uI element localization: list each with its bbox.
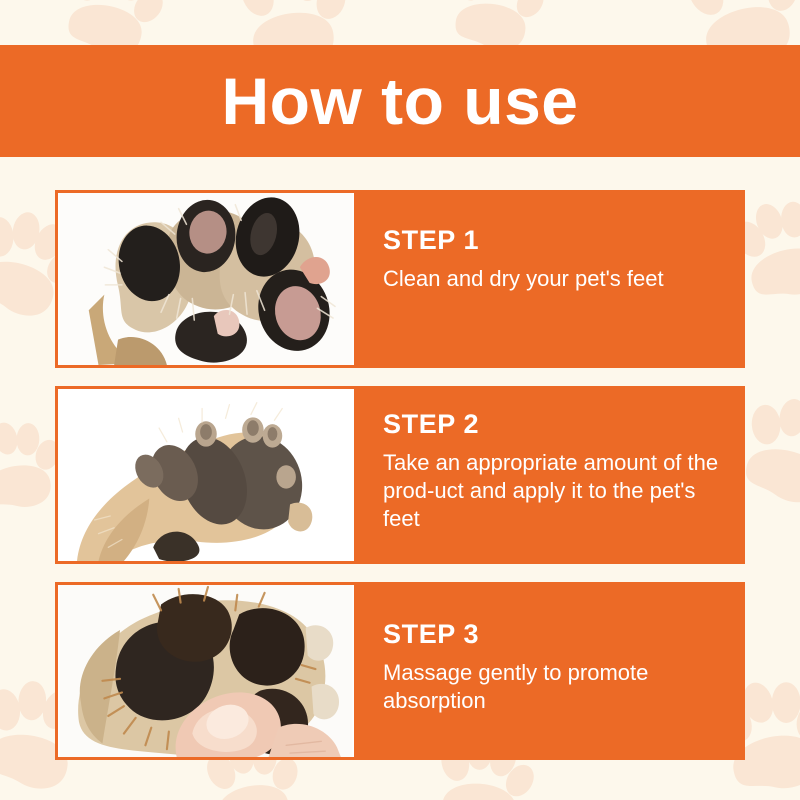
step-row: STEP 3 Massage gently to promote absorpt… (55, 582, 745, 760)
step-text-panel: STEP 3 Massage gently to promote absorpt… (355, 582, 745, 760)
step-photo (55, 582, 357, 760)
page-title: How to use (221, 68, 578, 134)
step-text-panel: STEP 2 Take an appropriate amount of the… (355, 386, 745, 564)
step-photo (55, 386, 357, 564)
step-row: STEP 1 Clean and dry your pet's feet (55, 190, 745, 368)
step-text-panel: STEP 1 Clean and dry your pet's feet (355, 190, 745, 368)
step-title: STEP 3 (383, 620, 745, 650)
step-title: STEP 1 (383, 226, 745, 256)
step-description: Take an appropriate amount of the prod-u… (383, 449, 723, 533)
step-title: STEP 2 (383, 410, 745, 440)
step-description: Massage gently to promote absorption (383, 659, 723, 715)
step-row: STEP 2 Take an appropriate amount of the… (55, 386, 745, 564)
step-photo (55, 190, 357, 368)
header-banner: How to use (0, 45, 800, 157)
step-description: Clean and dry your pet's feet (383, 265, 723, 293)
